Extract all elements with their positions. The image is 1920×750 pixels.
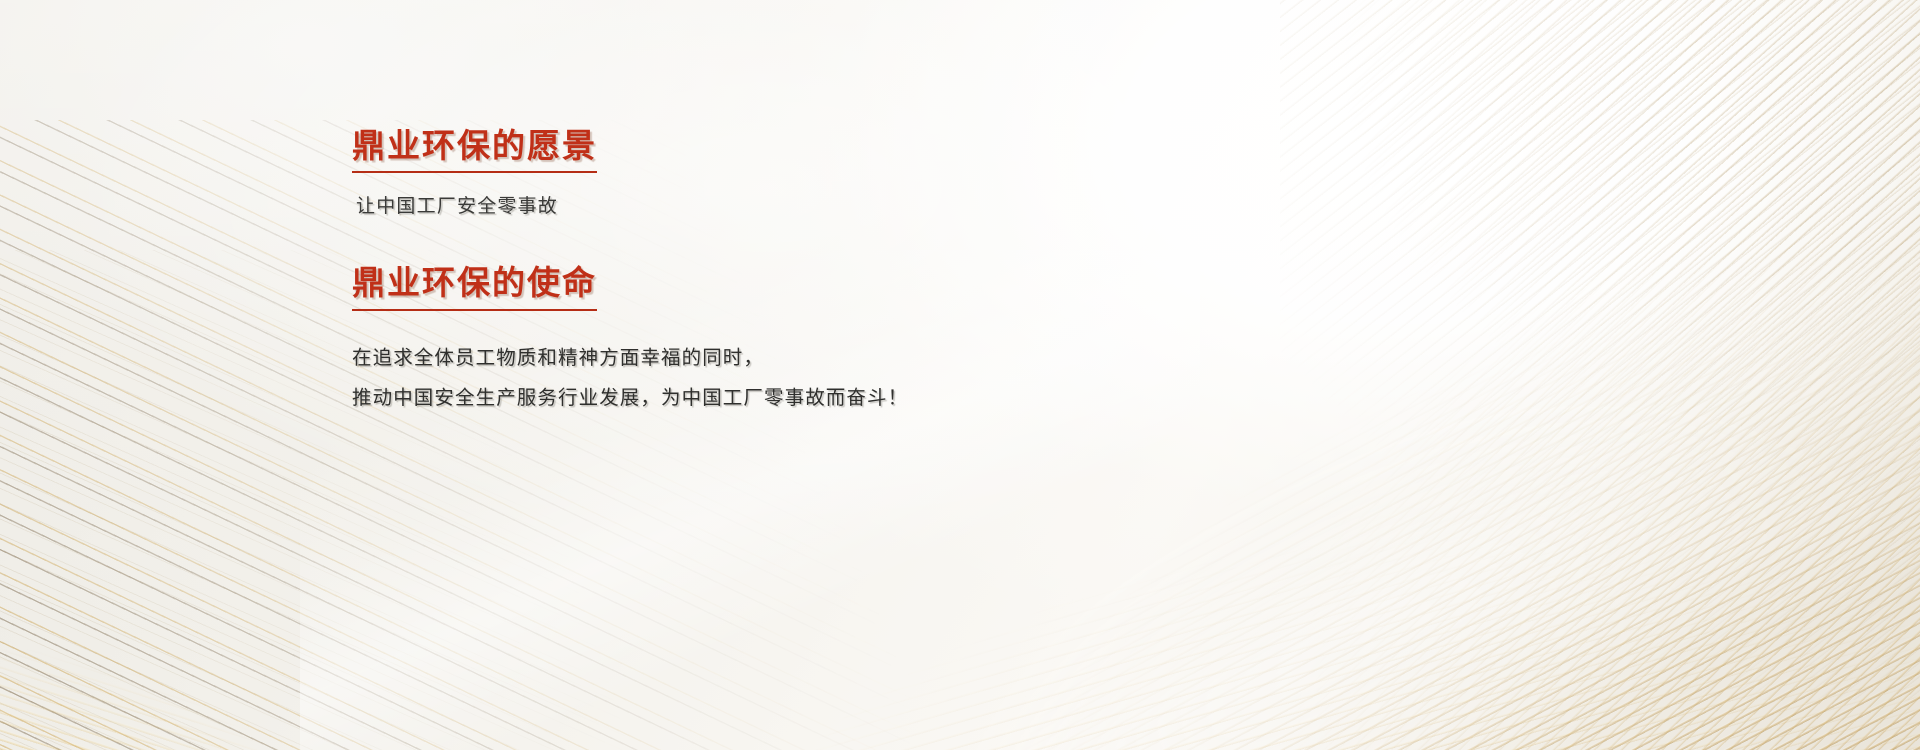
mission-body-line-1: 在追求全体员工物质和精神方面幸福的同时，: [352, 338, 1252, 378]
vision-heading-wrap: 鼎业环保的愿景: [352, 128, 1252, 173]
background-gold-burst-bottom-left: [0, 420, 660, 750]
mission-heading: 鼎业环保的使命: [352, 265, 597, 310]
mission-body-line-2: 推动中国安全生产服务行业发展，为中国工厂零事故而奋斗！: [352, 378, 1252, 418]
vision-mission-banner: 鼎业环保的愿景 让中国工厂安全零事故 鼎业环保的使命 在追求全体员工物质和精神方…: [0, 0, 1920, 750]
vision-subtitle: 让中国工厂安全零事故: [356, 191, 1252, 218]
vision-heading: 鼎业环保的愿景: [352, 128, 597, 173]
mission-heading-wrap: 鼎业环保的使命: [352, 265, 1252, 310]
background-diagonal-stripes-top-right-secondary: [1280, 0, 1920, 700]
section-spacer: [352, 218, 1252, 265]
mission-body: 在追求全体员工物质和精神方面幸福的同时， 推动中国安全生产服务行业发展，为中国工…: [352, 338, 1252, 418]
banner-content: 鼎业环保的愿景 让中国工厂安全零事故 鼎业环保的使命 在追求全体员工物质和精神方…: [352, 128, 1252, 418]
